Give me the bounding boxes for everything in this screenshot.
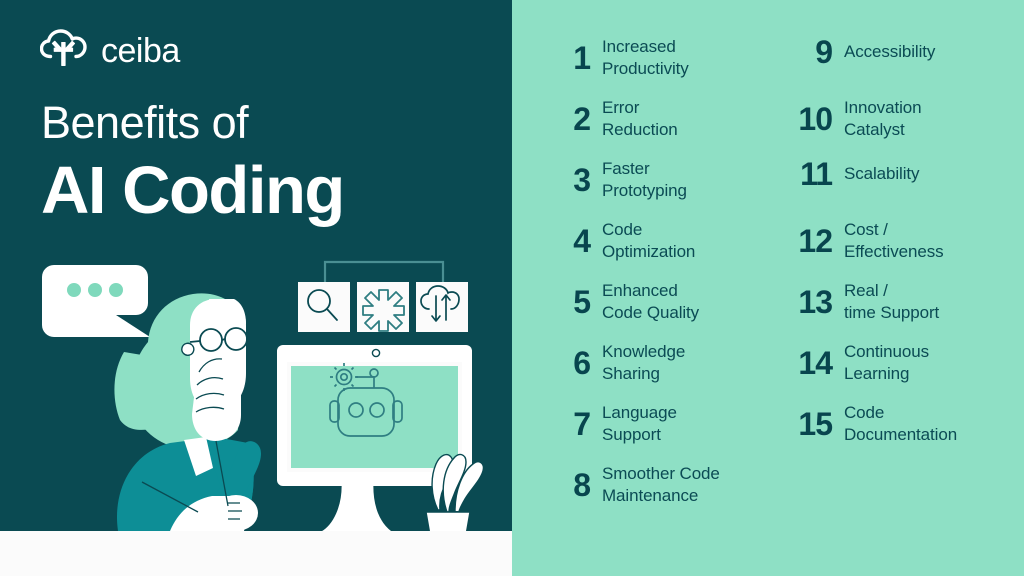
benefit-item[interactable]: 6KnowledgeSharing xyxy=(548,341,685,385)
benefit-item[interactable]: 7LanguageSupport xyxy=(548,402,677,446)
benefit-number: 5 xyxy=(548,286,590,318)
benefit-number: 6 xyxy=(548,347,590,379)
benefit-number: 13 xyxy=(790,286,832,318)
infographic-poster: ceiba Benefits of AI Coding xyxy=(0,0,1024,576)
potted-plant-icon xyxy=(426,455,483,541)
benefit-item[interactable]: 11Scalability xyxy=(790,158,919,190)
benefit-label: KnowledgeSharing xyxy=(602,341,685,385)
benefit-label: Smoother CodeMaintenance xyxy=(602,463,720,507)
benefit-number: 15 xyxy=(790,408,832,440)
benefit-item[interactable]: 3FasterPrototyping xyxy=(548,158,687,202)
benefit-item[interactable]: 14ContinuousLearning xyxy=(790,341,929,385)
benefit-item[interactable]: 4CodeOptimization xyxy=(548,219,695,263)
benefit-number: 1 xyxy=(548,42,590,74)
benefit-number: 4 xyxy=(548,225,590,257)
bracket-connector-icon xyxy=(325,262,443,282)
benefit-item[interactable]: 13Real /time Support xyxy=(790,280,939,324)
left-panel: ceiba Benefits of AI Coding xyxy=(0,0,512,576)
icon-card-cloud-sync[interactable] xyxy=(416,282,468,332)
floor-strip xyxy=(0,531,512,576)
benefit-label: FasterPrototyping xyxy=(602,158,687,202)
icon-card-asterisk[interactable] xyxy=(357,282,409,332)
benefit-item[interactable]: 2ErrorReduction xyxy=(548,97,678,141)
benefit-label: ErrorReduction xyxy=(602,97,678,141)
benefit-label: Real /time Support xyxy=(844,280,939,324)
benefit-number: 7 xyxy=(548,408,590,440)
benefit-number: 10 xyxy=(790,103,832,135)
benefit-number: 9 xyxy=(790,36,832,68)
benefit-number: 3 xyxy=(548,164,590,196)
benefit-item[interactable]: 10InnovationCatalyst xyxy=(790,97,921,141)
benefit-item[interactable]: 5EnhancedCode Quality xyxy=(548,280,699,324)
benefit-number: 8 xyxy=(548,469,590,501)
benefit-label: ContinuousLearning xyxy=(844,341,929,385)
benefit-item[interactable]: 9Accessibility xyxy=(790,36,935,68)
benefit-label: LanguageSupport xyxy=(602,402,677,446)
speech-bubble-icon xyxy=(42,265,150,337)
benefit-item[interactable]: 15CodeDocumentation xyxy=(790,402,957,446)
benefit-label: CodeDocumentation xyxy=(844,402,957,446)
benefit-label: Accessibility xyxy=(844,41,935,63)
benefit-item[interactable]: 12Cost /Effectiveness xyxy=(790,219,944,263)
benefit-label: CodeOptimization xyxy=(602,219,695,263)
benefit-item[interactable]: 8Smoother CodeMaintenance xyxy=(548,463,720,507)
benefit-number: 12 xyxy=(790,225,832,257)
hero-illustration xyxy=(0,0,512,576)
benefit-label: Cost /Effectiveness xyxy=(844,219,944,263)
right-panel: 1IncreasedProductivity2ErrorReduction3Fa… xyxy=(512,0,1024,576)
benefit-number: 2 xyxy=(548,103,590,135)
desktop-monitor-icon xyxy=(277,345,472,531)
benefit-label: Scalability xyxy=(844,163,919,185)
icon-card-magnifier[interactable] xyxy=(298,282,350,332)
benefit-number: 11 xyxy=(790,158,832,190)
benefit-item[interactable]: 1IncreasedProductivity xyxy=(548,36,689,80)
benefit-number: 14 xyxy=(790,347,832,379)
benefit-label: IncreasedProductivity xyxy=(602,36,689,80)
benefit-label: InnovationCatalyst xyxy=(844,97,921,141)
benefit-label: EnhancedCode Quality xyxy=(602,280,699,324)
